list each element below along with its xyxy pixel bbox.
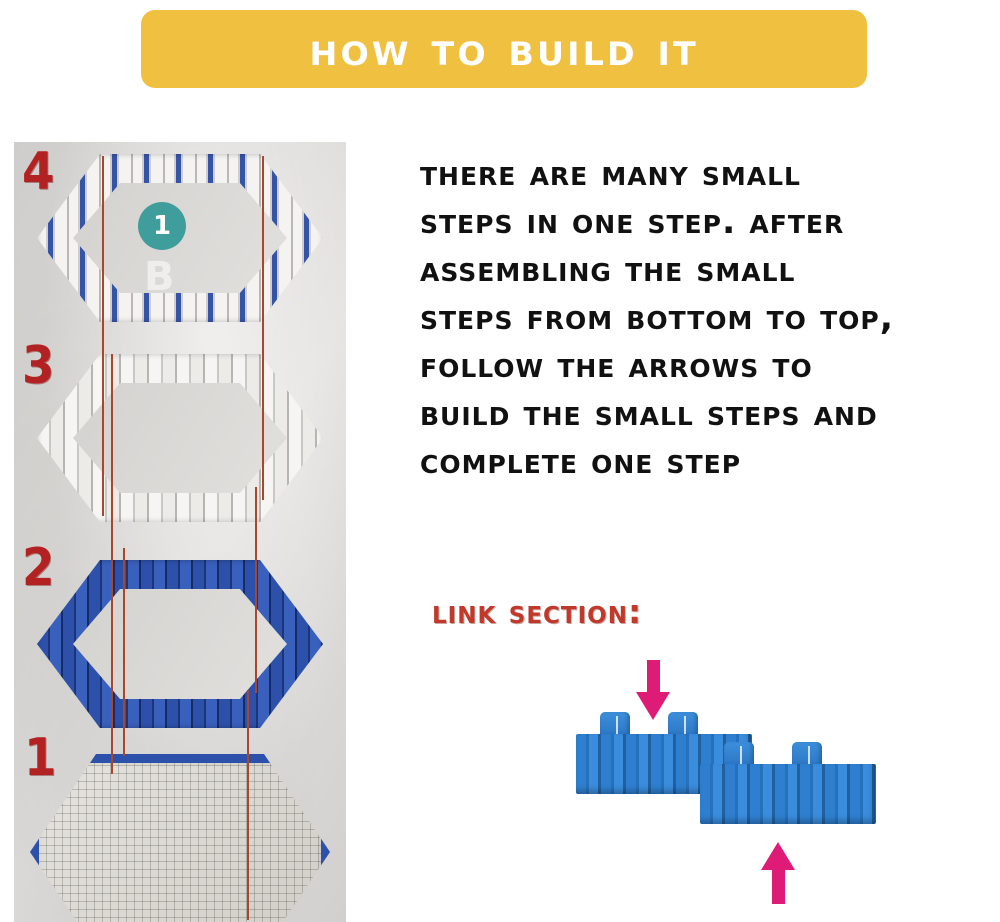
guide-rod-left-middle xyxy=(111,354,113,774)
hex-ring-2 xyxy=(37,560,323,728)
arrow-down-head xyxy=(636,692,670,720)
arrow-up-icon xyxy=(758,842,798,904)
arrow-down-shaft xyxy=(647,660,660,696)
link-section-diagram xyxy=(540,660,940,910)
step-number-2: 2 xyxy=(22,542,55,594)
arrow-up-shaft xyxy=(772,868,785,904)
instructions-text-block: There are many small steps in one step. … xyxy=(420,150,960,486)
title-banner: How to Build It xyxy=(141,10,867,88)
brick-layer-2 xyxy=(37,560,323,728)
instruction-line: follow the arrows to xyxy=(420,342,960,390)
step-badge-1-label: 1 xyxy=(153,213,171,239)
guide-rod-right-middle xyxy=(255,487,257,693)
instruction-line: There are many small xyxy=(420,150,960,198)
brick-layer-3 xyxy=(37,354,323,522)
instruction-line: steps in one step. After xyxy=(420,198,960,246)
link-section-heading: Link Section: xyxy=(432,592,642,631)
brick-layer-1 xyxy=(30,754,330,922)
lower-brick-body xyxy=(700,764,876,824)
photo-watermark: B xyxy=(144,254,173,300)
hex-ring-3 xyxy=(37,354,323,522)
step-number-1: 1 xyxy=(24,732,57,784)
arrow-down-icon xyxy=(633,660,673,720)
instruction-line: assembling the small xyxy=(420,246,960,294)
guide-rod-right-upper xyxy=(262,156,264,500)
instruction-line: complete one step xyxy=(420,438,960,486)
instruction-line: build the small steps and xyxy=(420,390,960,438)
hex-base-plate xyxy=(30,754,330,922)
step-number-3: 3 xyxy=(22,340,55,392)
guide-rod-right-lower xyxy=(247,690,249,920)
instruction-line: steps from bottom to top, xyxy=(420,294,960,342)
guide-rod-left-upper xyxy=(102,156,104,516)
step-number-4: 4 xyxy=(22,146,55,198)
guide-rod-left-lower xyxy=(123,548,125,756)
step-badge-1: 1 xyxy=(138,202,186,250)
arrow-up-head xyxy=(761,842,795,870)
page-title: How to Build It xyxy=(309,26,698,72)
assembly-photo-panel: 1 B 4 3 2 1 xyxy=(14,142,346,922)
